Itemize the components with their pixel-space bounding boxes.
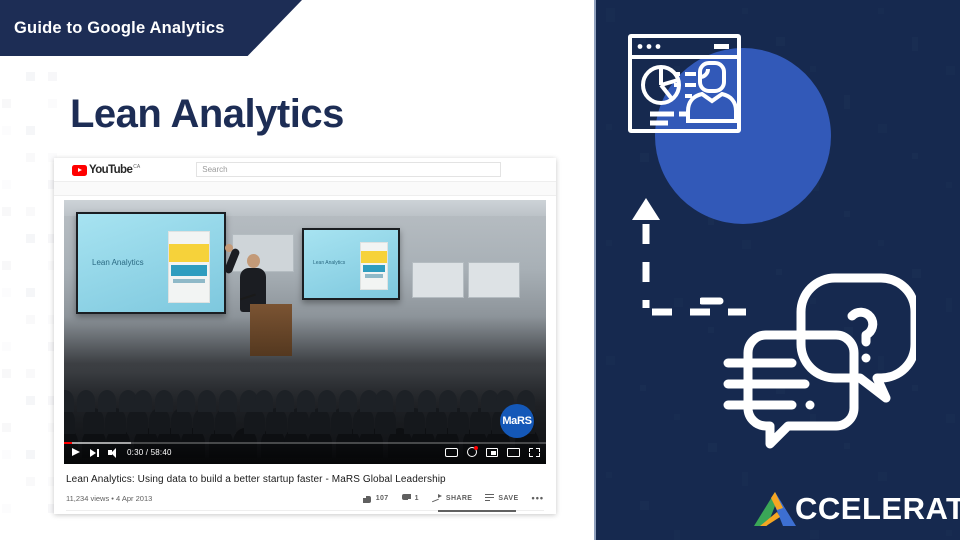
podium	[250, 304, 292, 356]
thumbs-down-icon	[402, 494, 411, 503]
youtube-logo[interactable]: YouTube CA	[72, 164, 140, 176]
settings-gear-icon[interactable]	[467, 447, 477, 457]
thumbs-up-icon	[363, 494, 372, 503]
progress-buffer	[64, 442, 131, 444]
analytics-dashboard-icon	[628, 30, 741, 143]
book-author-block	[365, 274, 383, 278]
book-band	[169, 244, 209, 262]
section-banner: Guide to Google Analytics	[0, 0, 302, 56]
youtube-country-code: CA	[133, 164, 140, 170]
video-action-buttons: 107 1 SHARE SAVE •••	[363, 493, 544, 503]
progress-bar[interactable]	[64, 442, 546, 444]
dislike-button[interactable]: 1	[402, 494, 419, 503]
time-display: 0:30 / 58:40	[127, 448, 172, 457]
save-button[interactable]: SAVE	[485, 494, 518, 502]
save-label: SAVE	[498, 495, 518, 502]
volume-icon[interactable]	[108, 447, 119, 458]
accelerate-logo-mark	[752, 490, 798, 528]
book-author-block	[173, 279, 205, 283]
accelerate-logo-text: CCELERATE	[795, 493, 960, 525]
speaker-hand	[225, 244, 233, 252]
video-stats: 11,234 views • 4 Apr 2013	[66, 494, 152, 503]
share-label: SHARE	[446, 495, 473, 502]
like-button[interactable]: 107	[363, 494, 389, 503]
share-button[interactable]: SHARE	[432, 494, 473, 502]
dislike-count: 1	[415, 495, 419, 502]
youtube-subheader-strip	[54, 182, 556, 196]
projection-screen-secondary: Lean Analytics	[302, 228, 400, 300]
theater-mode-icon[interactable]	[507, 448, 520, 457]
page-title: Lean Analytics	[70, 92, 344, 137]
next-video-button[interactable]	[89, 447, 100, 458]
book-subtitle-block	[363, 265, 385, 272]
video-meta-row: 11,234 views • 4 Apr 2013 107 1 SHARE	[66, 493, 544, 511]
screen-slide-title: Lean Analytics	[313, 260, 345, 266]
right-graphic-panel: CCELERATE	[594, 0, 960, 540]
youtube-header-bar: YouTube CA Search	[54, 158, 556, 182]
message-bubble-icon	[728, 335, 854, 444]
left-content-panel: Guide to Google Analytics Lean Analytics…	[0, 0, 594, 540]
decorative-dot-grid	[0, 72, 60, 532]
video-meta: Lean Analytics: Using data to build a be…	[54, 464, 556, 512]
video-player[interactable]: Lean Analytics Lean Analytics	[64, 200, 546, 464]
book-cover	[168, 231, 210, 303]
settings-new-badge	[474, 446, 478, 450]
search-input[interactable]: Search	[196, 162, 501, 177]
player-controls[interactable]: 0:30 / 58:40	[64, 442, 546, 464]
more-actions-button[interactable]: •••	[532, 493, 544, 503]
youtube-card: YouTube CA Search Lean Analytics	[54, 158, 556, 514]
share-icon	[432, 494, 442, 502]
save-icon	[485, 494, 494, 502]
mars-watermark: MaRS	[500, 404, 534, 438]
section-banner-label: Guide to Google Analytics	[0, 19, 225, 38]
like-bar-indicator	[438, 510, 516, 512]
chat-bubbles-icon	[700, 268, 916, 458]
speaker-head	[247, 254, 260, 268]
projection-screen-main: Lean Analytics	[76, 212, 226, 314]
like-count: 107	[376, 495, 389, 502]
wall-panel	[232, 234, 294, 272]
play-button[interactable]	[70, 447, 81, 458]
accelerate-logo: CCELERATE	[752, 490, 960, 528]
youtube-play-icon	[72, 165, 87, 176]
book-band	[361, 251, 387, 263]
progress-played	[64, 442, 72, 444]
lecture-hall-scene: Lean Analytics Lean Analytics	[64, 200, 546, 464]
subtitles-cc-icon[interactable]	[445, 448, 458, 457]
screen-slide-title: Lean Analytics	[92, 258, 144, 267]
wall-panel	[468, 262, 520, 298]
book-cover	[360, 242, 388, 290]
fullscreen-icon[interactable]	[529, 448, 540, 457]
search-placeholder-text: Search	[202, 165, 227, 174]
book-subtitle-block	[171, 265, 207, 276]
youtube-wordmark: YouTube	[89, 164, 132, 176]
video-title[interactable]: Lean Analytics: Using data to build a be…	[66, 474, 544, 485]
miniplayer-icon[interactable]	[486, 448, 498, 457]
wall-panel	[412, 262, 464, 298]
